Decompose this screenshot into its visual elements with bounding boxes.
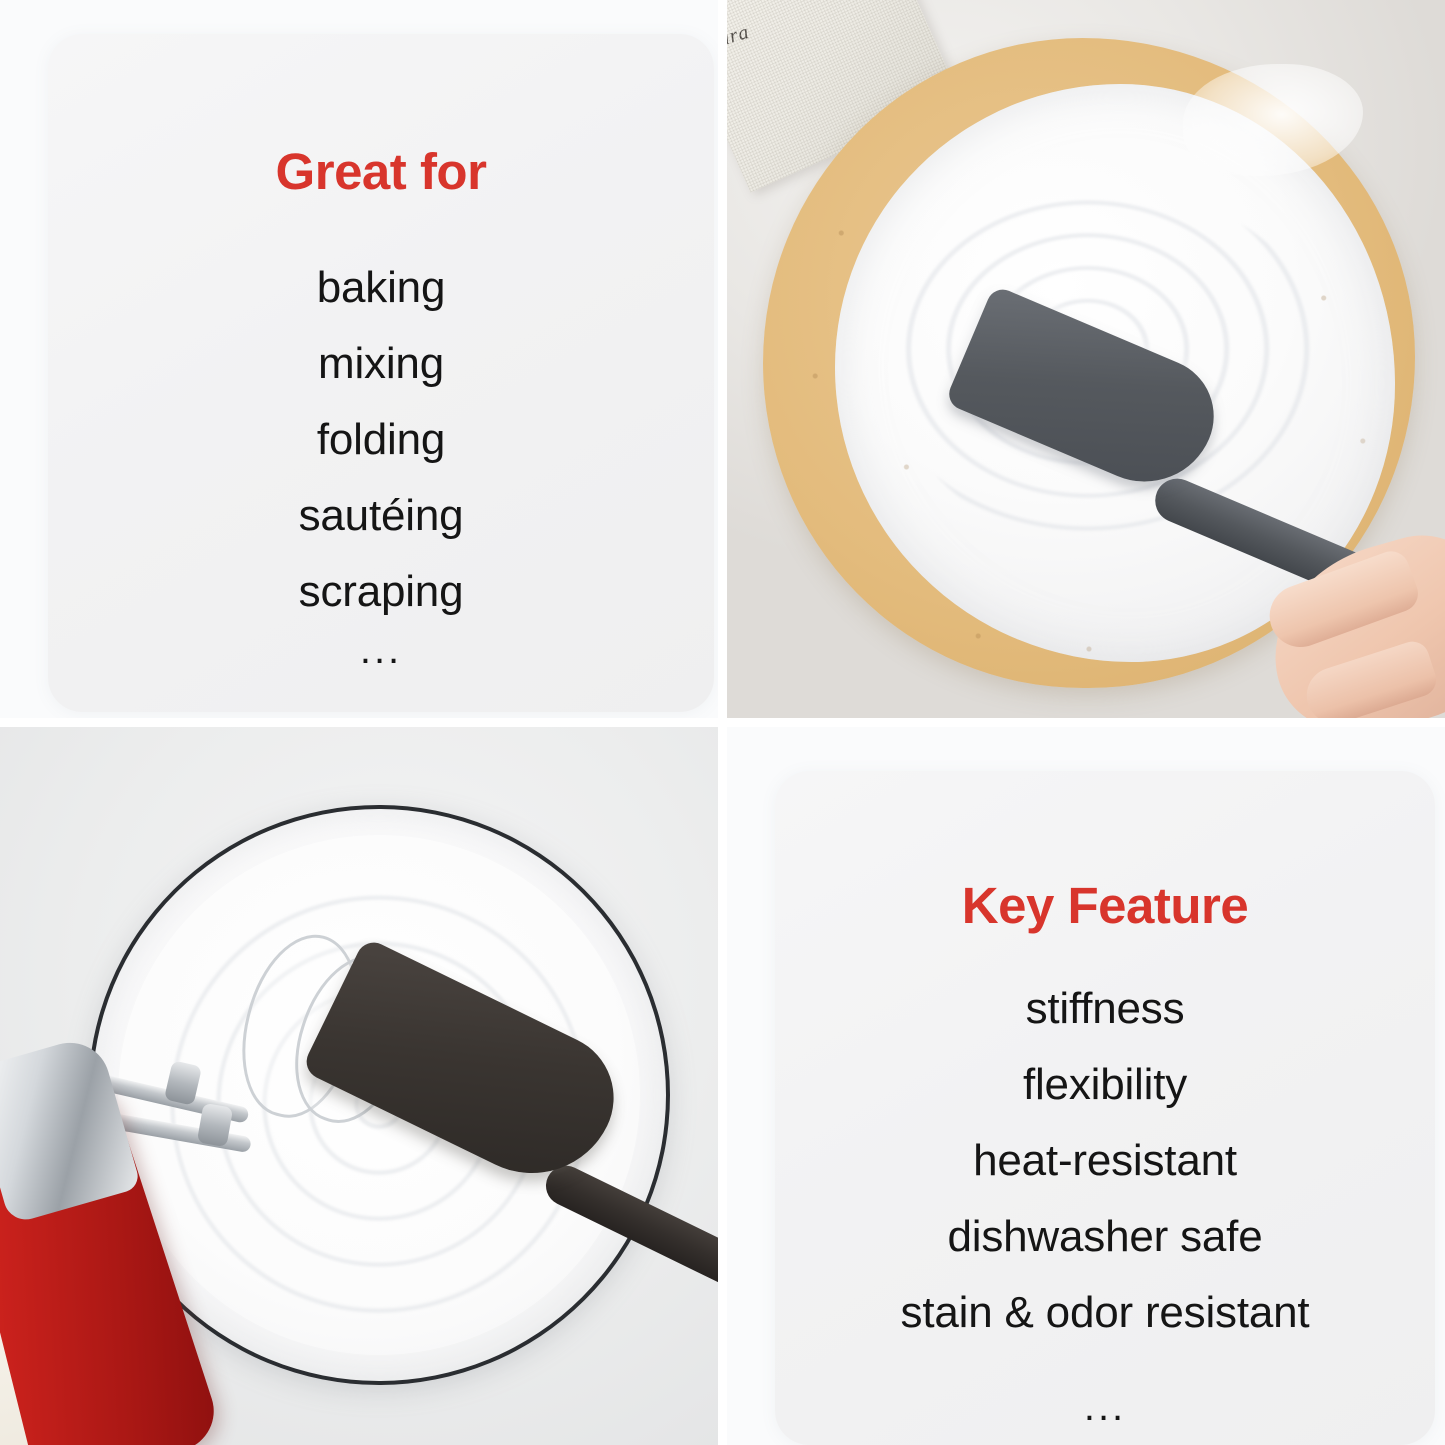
list-item: folding xyxy=(48,402,714,478)
list-item: mixing xyxy=(48,326,714,402)
list-item: sautéing xyxy=(48,478,714,554)
panel-key-feature: Key Feature stiffness flexibility heat-r… xyxy=(727,727,1445,1445)
list-item: stiffness xyxy=(775,971,1435,1047)
list-item: stain & odor resistant xyxy=(775,1275,1435,1351)
mixer-stripe xyxy=(0,1246,44,1445)
photo-whipped-cream-bowl xyxy=(0,727,718,1445)
list-item: flexibility xyxy=(775,1047,1435,1123)
towel-print-text: he guara xyxy=(727,0,754,67)
great-for-card: Great for baking mixing folding sautéing… xyxy=(48,34,714,712)
product-infographic: Great for baking mixing folding sautéing… xyxy=(0,0,1445,1445)
photo-cake-frosting: he guara xyxy=(727,0,1445,718)
great-for-ellipsis: ... xyxy=(48,628,714,673)
horizontal-gutter xyxy=(0,718,1445,727)
sugar-dust-patch xyxy=(1183,64,1363,176)
key-feature-title: Key Feature xyxy=(775,876,1435,936)
list-item: heat-resistant xyxy=(775,1123,1435,1199)
list-item: baking xyxy=(48,250,714,326)
key-feature-ellipsis: ... xyxy=(775,1385,1435,1430)
great-for-title: Great for xyxy=(48,142,714,202)
panel-great-for: Great for baking mixing folding sautéing… xyxy=(0,0,718,718)
great-for-list: baking mixing folding sautéing scraping xyxy=(48,250,714,630)
key-feature-list: stiffness flexibility heat-resistant dis… xyxy=(775,971,1435,1351)
key-feature-card: Key Feature stiffness flexibility heat-r… xyxy=(775,771,1435,1445)
list-item: scraping xyxy=(48,554,714,630)
list-item: dishwasher safe xyxy=(775,1199,1435,1275)
